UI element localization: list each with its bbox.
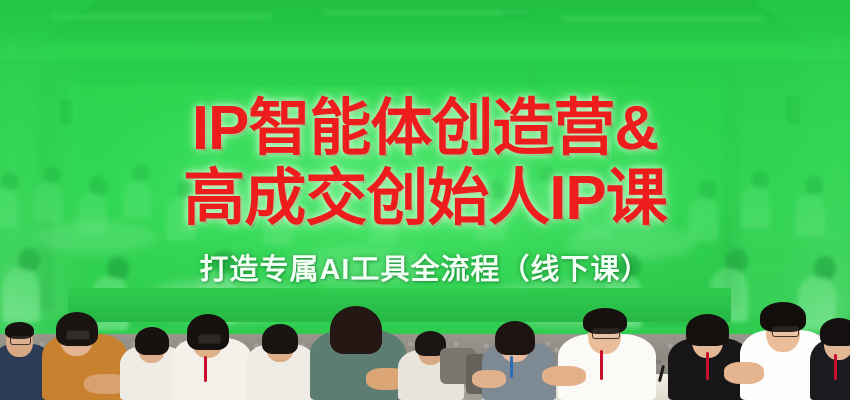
attendee-hair xyxy=(187,314,229,350)
attendee-arm xyxy=(542,366,586,386)
lanyard xyxy=(706,352,709,380)
attendee-hair xyxy=(820,318,850,346)
glasses-icon xyxy=(772,326,799,337)
subtitle: 打造专属AI工具全流程（线下课） xyxy=(0,246,850,288)
attendee xyxy=(808,304,850,400)
headline-text-block: IP智能体创造营& 高成交创始人IP课 打造专属AI工具全流程（线下课） xyxy=(0,98,850,288)
attendee-arm xyxy=(472,370,506,388)
attendee xyxy=(168,296,254,400)
foreground-attendees xyxy=(0,288,850,400)
attendee-arm xyxy=(724,362,764,384)
attendee-hair xyxy=(135,327,169,355)
course-promo-banner: IP智能体创造营& 高成交创始人IP课 打造专属AI工具全流程（线下课） xyxy=(0,0,850,400)
title-line-1: IP智能体创造营& xyxy=(0,98,850,160)
attendee xyxy=(304,288,410,400)
lanyard xyxy=(600,350,603,380)
glasses-icon xyxy=(198,334,221,344)
lanyard xyxy=(510,356,513,378)
title-line-2: 高成交创始人IP课 xyxy=(0,168,850,230)
attendee xyxy=(552,292,660,400)
attendee-hair xyxy=(495,321,535,355)
attendee xyxy=(38,292,130,400)
lanyard xyxy=(204,356,207,382)
attendee-hair xyxy=(686,314,729,346)
glasses-icon xyxy=(66,330,90,340)
glasses-icon xyxy=(592,328,620,339)
lanyard xyxy=(834,354,837,380)
attendee-hair xyxy=(56,312,98,346)
attendee xyxy=(478,306,558,400)
attendee-hair xyxy=(330,306,382,354)
glasses-icon xyxy=(10,336,31,345)
attendee-hair xyxy=(262,324,298,354)
